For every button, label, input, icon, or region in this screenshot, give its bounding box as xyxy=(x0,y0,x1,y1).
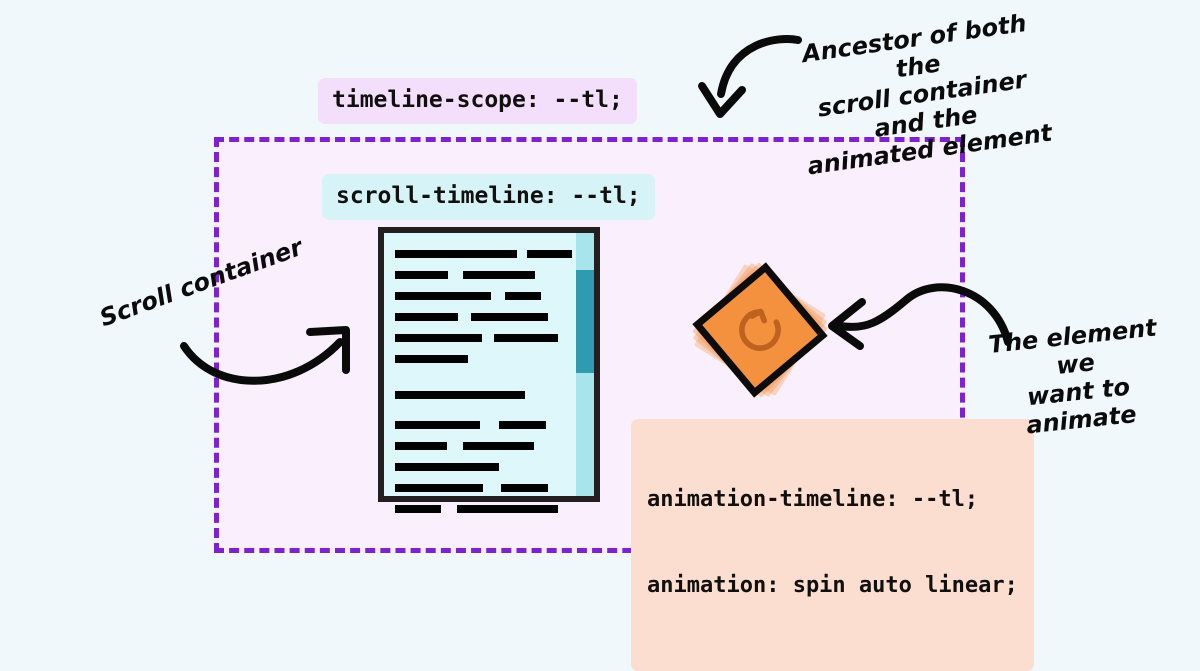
animation-shorthand-line: animation: spin auto linear; xyxy=(647,572,1018,601)
animated-element xyxy=(690,260,830,400)
arrow-to-animated-element-icon xyxy=(818,272,1028,367)
document-line xyxy=(501,484,548,492)
document-line xyxy=(395,292,491,300)
document-line xyxy=(395,391,525,399)
document-line xyxy=(494,334,558,342)
document-line xyxy=(395,355,468,363)
document-line xyxy=(395,463,499,471)
scrollbar-track[interactable] xyxy=(576,233,594,496)
document-line xyxy=(395,505,441,513)
spin-rotate-icon xyxy=(731,301,789,359)
arrow-to-ancestor-icon xyxy=(690,28,810,138)
diagram-canvas: timeline-scope: --tl; scroll-timeline: -… xyxy=(0,0,1200,630)
scroll-timeline-badge: scroll-timeline: --tl; xyxy=(322,174,655,220)
scroll-container[interactable] xyxy=(378,227,600,502)
document-line xyxy=(395,484,483,492)
document-line xyxy=(395,250,517,258)
scrollbar-thumb[interactable] xyxy=(576,270,594,373)
document-line xyxy=(527,250,572,258)
document-line xyxy=(499,421,546,429)
timeline-scope-badge: timeline-scope: --tl; xyxy=(318,78,637,124)
document-line xyxy=(463,442,534,450)
annotation-ancestor: Ancestor of both the scroll container an… xyxy=(783,7,1060,182)
document-line xyxy=(395,421,480,429)
document-line xyxy=(395,313,458,321)
document-line xyxy=(471,313,548,321)
arrow-to-scroll-container-icon xyxy=(180,326,370,406)
document-line xyxy=(395,271,448,279)
document-line xyxy=(395,442,447,450)
document-line xyxy=(505,292,541,300)
document-line xyxy=(457,505,558,513)
animation-timeline-line: animation-timeline: --tl; xyxy=(647,486,1018,515)
document-line xyxy=(463,271,535,279)
document-line xyxy=(395,334,482,342)
document-text-lines xyxy=(384,233,576,496)
animated-square xyxy=(692,262,827,397)
animation-timeline-badge: animation-timeline: --tl; animation: spi… xyxy=(631,419,1034,671)
